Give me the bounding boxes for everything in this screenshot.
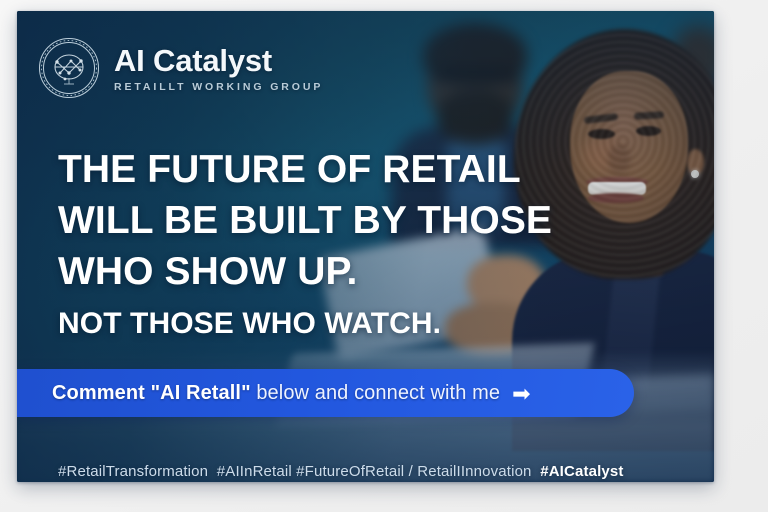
headline-line-3: WHO SHOW UP. bbox=[58, 246, 558, 297]
hashtag-ai-in-retail[interactable]: #AIInRetail bbox=[217, 463, 292, 480]
hashtag-retail-transformation[interactable]: #RetailTransformation bbox=[58, 463, 208, 480]
arrow-right-icon: ➡ bbox=[512, 383, 530, 405]
ai-network-seal-icon bbox=[38, 37, 100, 99]
cta-label: Comment "AI Retall" below and connect wi… bbox=[52, 382, 500, 405]
headline-block: THE FUTURE OF RETAIL WILL BE BUILT BY TH… bbox=[58, 144, 558, 347]
social-promo-card: AI Catalyst RETAILLT WORKING GROUP THE F… bbox=[17, 11, 714, 482]
card-content: AI Catalyst RETAILLT WORKING GROUP THE F… bbox=[17, 11, 714, 482]
headline-line-2: WILL BE BUILT BY THOSE bbox=[58, 195, 558, 246]
hashtag-future-of-retail[interactable]: #FutureOfRetail bbox=[296, 463, 404, 480]
hashtag-row: #RetailTransformation #AIInRetail #Futur… bbox=[58, 463, 624, 480]
cta-banner[interactable]: Comment "AI Retall" below and connect wi… bbox=[17, 369, 634, 417]
headline-line-4: NOT THOSE WHO WATCH. bbox=[58, 301, 558, 347]
headline-line-1: THE FUTURE OF RETAIL bbox=[58, 144, 558, 195]
page-canvas: AI Catalyst RETAILLT WORKING GROUP THE F… bbox=[0, 0, 768, 512]
brand-lockup: AI Catalyst RETAILLT WORKING GROUP bbox=[38, 37, 323, 99]
cta-rest-text: below and connect with me bbox=[251, 382, 500, 404]
brand-text-block: AI Catalyst RETAILLT WORKING GROUP bbox=[114, 43, 323, 92]
cta-bold-text: Comment "AI Retall" bbox=[52, 382, 251, 404]
brand-name: AI Catalyst bbox=[114, 45, 323, 77]
hashtag-ai-catalyst[interactable]: #AICatalyst bbox=[540, 463, 623, 480]
hashtag-retail-innovation[interactable]: / RetailIInnovation bbox=[409, 463, 532, 480]
brand-tagline: RETAILLT WORKING GROUP bbox=[114, 82, 323, 93]
